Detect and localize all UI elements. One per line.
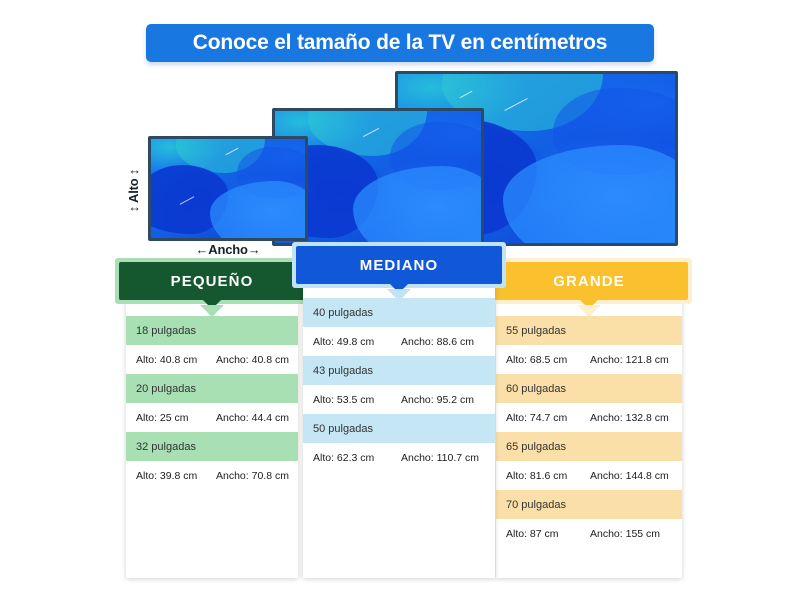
row-size: 43 pulgadas — [303, 356, 495, 385]
row-size: 65 pulgadas — [496, 432, 682, 461]
card-header-grande: GRANDE — [496, 258, 682, 304]
row-size: 40 pulgadas — [303, 298, 495, 327]
size-rows-pequeno: 18 pulgadas Alto: 40.8 cm Ancho: 40.8 cm… — [126, 316, 298, 490]
banner-mediano: MEDIANO — [296, 246, 502, 284]
row-ancho: Ancho: 132.8 cm — [590, 412, 682, 424]
size-card-grande: GRANDE 55 pulgadas Alto: 68.5 cm Ancho: … — [496, 272, 682, 578]
row-dimensions: Alto: 68.5 cm Ancho: 121.8 cm — [496, 345, 682, 374]
row-alto: Alto: 74.7 cm — [506, 412, 590, 424]
row-alto: Alto: 25 cm — [136, 412, 216, 424]
row-alto: Alto: 62.3 cm — [313, 452, 401, 464]
banner-label-grande: GRANDE — [553, 273, 625, 290]
row-dimensions: Alto: 40.8 cm Ancho: 40.8 cm — [126, 345, 298, 374]
row-dimensions: Alto: 62.3 cm Ancho: 110.7 cm — [303, 443, 495, 472]
row-size: 50 pulgadas — [303, 414, 495, 443]
row-ancho: Ancho: 88.6 cm — [401, 336, 495, 348]
row-ancho: Ancho: 144.8 cm — [590, 470, 682, 482]
tv-small-icon — [148, 136, 308, 241]
banner-outline: GRANDE — [486, 258, 692, 304]
page-title-banner: Conoce el tamaño de la TV en centímetros — [146, 24, 654, 62]
row-size: 60 pulgadas — [496, 374, 682, 403]
row-ancho: Ancho: 44.4 cm — [216, 412, 298, 424]
row-alto: Alto: 68.5 cm — [506, 354, 590, 366]
size-card-mediano: MEDIANO 40 pulgadas Alto: 49.8 cm Ancho:… — [303, 254, 495, 578]
row-dimensions: Alto: 53.5 cm Ancho: 95.2 cm — [303, 385, 495, 414]
row-dimensions: Alto: 49.8 cm Ancho: 88.6 cm — [303, 327, 495, 356]
row-ancho: Ancho: 110.7 cm — [401, 452, 495, 464]
banner-label-pequeno: PEQUEÑO — [171, 273, 254, 290]
row-dimensions: Alto: 39.8 cm Ancho: 70.8 cm — [126, 461, 298, 490]
banner-grande: GRANDE — [490, 262, 688, 300]
row-ancho: Ancho: 95.2 cm — [401, 394, 495, 406]
card-header-pequeno: PEQUEÑO — [126, 258, 298, 304]
row-ancho: Ancho: 40.8 cm — [216, 354, 298, 366]
row-size: 32 pulgadas — [126, 432, 298, 461]
tv-size-illustration: ↕ Alto ↕ ←Ancho→ — [120, 66, 690, 256]
size-card-pequeno: PEQUEÑO 18 pulgadas Alto: 40.8 cm Ancho:… — [126, 272, 298, 578]
alto-label-text: ↕ Alto ↕ — [127, 168, 142, 211]
row-alto: Alto: 40.8 cm — [136, 354, 216, 366]
size-rows-grande: 55 pulgadas Alto: 68.5 cm Ancho: 121.8 c… — [496, 316, 682, 548]
page-title: Conoce el tamaño de la TV en centímetros — [193, 31, 607, 55]
banner-pequeno: PEQUEÑO — [119, 262, 305, 300]
row-alto: Alto: 81.6 cm — [506, 470, 590, 482]
row-dimensions: Alto: 74.7 cm Ancho: 132.8 cm — [496, 403, 682, 432]
row-dimensions: Alto: 87 cm Ancho: 155 cm — [496, 519, 682, 548]
row-alto: Alto: 87 cm — [506, 528, 590, 540]
banner-outline: PEQUEÑO — [115, 258, 309, 304]
card-header-mediano: MEDIANO — [303, 242, 495, 288]
row-ancho: Ancho: 70.8 cm — [216, 470, 298, 482]
banner-label-mediano: MEDIANO — [360, 257, 439, 274]
row-size: 70 pulgadas — [496, 490, 682, 519]
row-ancho: Ancho: 155 cm — [590, 528, 682, 540]
tv-screen-wallpaper — [151, 139, 305, 238]
banner-outline: MEDIANO — [292, 242, 506, 288]
row-size: 18 pulgadas — [126, 316, 298, 345]
row-alto: Alto: 53.5 cm — [313, 394, 401, 406]
alto-dimension-label: ↕ Alto ↕ — [126, 154, 142, 226]
row-dimensions: Alto: 25 cm Ancho: 44.4 cm — [126, 403, 298, 432]
size-rows-mediano: 40 pulgadas Alto: 49.8 cm Ancho: 88.6 cm… — [303, 298, 495, 472]
row-alto: Alto: 49.8 cm — [313, 336, 401, 348]
row-size: 55 pulgadas — [496, 316, 682, 345]
row-alto: Alto: 39.8 cm — [136, 470, 216, 482]
row-size: 20 pulgadas — [126, 374, 298, 403]
row-ancho: Ancho: 121.8 cm — [590, 354, 682, 366]
row-dimensions: Alto: 81.6 cm Ancho: 144.8 cm — [496, 461, 682, 490]
